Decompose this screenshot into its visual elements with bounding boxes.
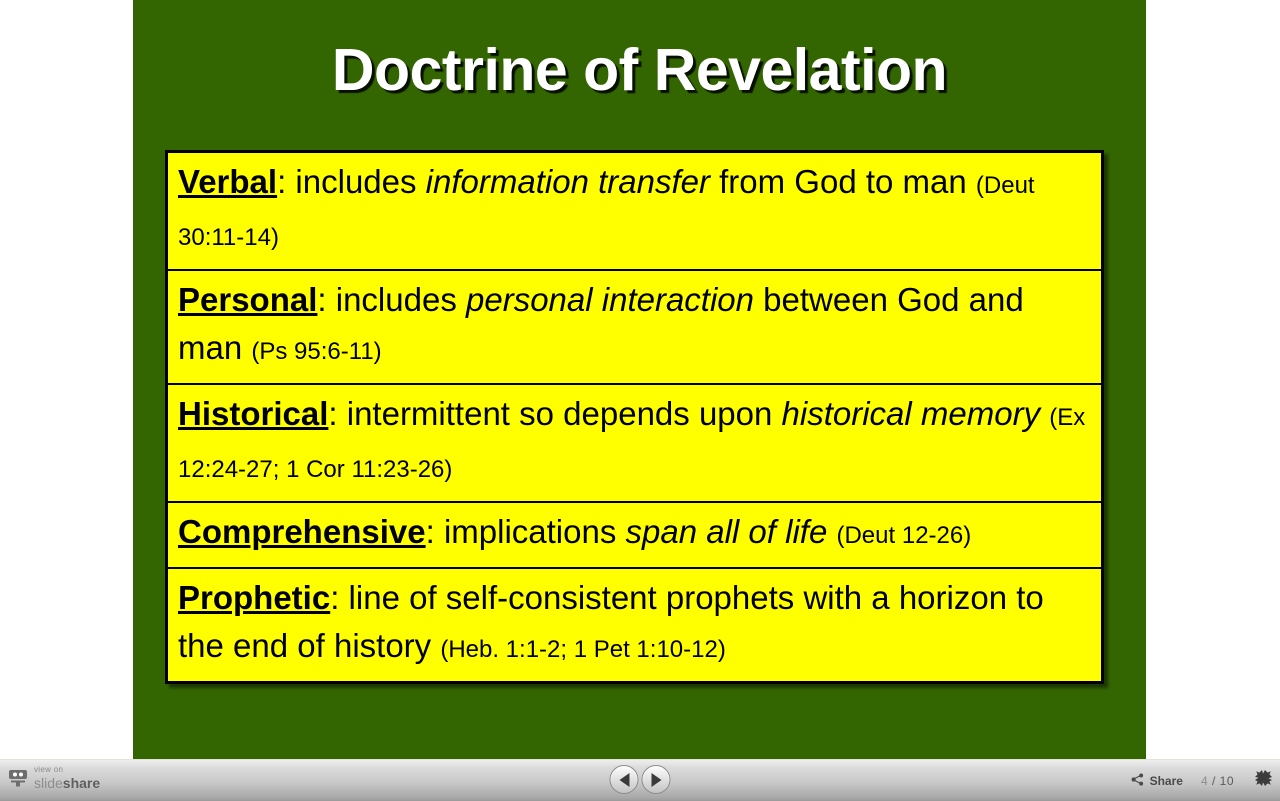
row-separator: : <box>426 513 444 550</box>
slide-canvas: Doctrine of Revelation Verbal: includes … <box>133 0 1146 759</box>
brand-view-on-label: view on <box>34 766 100 774</box>
row-separator: : <box>328 395 346 432</box>
row-text-after <box>1040 395 1049 432</box>
row-emphasis: information transfer <box>426 163 710 200</box>
brand-name-label: slideshare <box>34 776 100 790</box>
table-row: Prophetic: line of self-consistent proph… <box>168 569 1101 681</box>
row-keyword: Personal <box>178 281 317 318</box>
slide-title: Doctrine of Revelation <box>133 38 1146 102</box>
chevron-right-icon <box>651 773 661 787</box>
row-emphasis: span all of life <box>626 513 828 550</box>
slide-viewer: Doctrine of Revelation Verbal: includes … <box>0 0 1280 759</box>
row-text-before: intermittent so depends upon <box>347 395 782 432</box>
row-text-before: implications <box>444 513 626 550</box>
row-keyword: Historical <box>178 395 328 432</box>
row-keyword: Comprehensive <box>178 513 426 550</box>
row-keyword: Verbal <box>178 163 277 200</box>
current-page-number: 4 <box>1201 774 1208 788</box>
toolbar-right-controls: Share 4 / 10 <box>1131 760 1274 801</box>
slide-navigation <box>610 765 671 794</box>
points-table: Verbal: includes information transfer fr… <box>165 150 1104 684</box>
next-slide-button[interactable] <box>642 765 671 794</box>
row-text-before: includes <box>295 163 425 200</box>
row-text-after: from God to man <box>710 163 976 200</box>
row-emphasis: personal interaction <box>466 281 754 318</box>
previous-slide-button[interactable] <box>610 765 639 794</box>
table-row: Comprehensive: implications span all of … <box>168 503 1101 569</box>
row-separator: : <box>330 579 348 616</box>
player-toolbar: view on slideshare Share 4 / 1 <box>0 759 1280 801</box>
brand-name-bold: share <box>63 775 100 791</box>
row-reference: (Ps 95:6-11) <box>251 338 381 365</box>
row-emphasis: historical memory <box>782 395 1041 432</box>
row-reference: (Deut 12-26) <box>836 522 971 549</box>
table-row: Historical: intermittent so depends upon… <box>168 385 1101 503</box>
share-icon <box>1131 773 1144 789</box>
table-row: Verbal: includes information transfer fr… <box>168 153 1101 271</box>
share-button[interactable]: Share <box>1131 773 1183 789</box>
row-reference: (Heb. 1:1-2; 1 Pet 1:10-12) <box>440 636 726 663</box>
table-row: Personal: includes personal interaction … <box>168 271 1101 385</box>
row-separator: : <box>317 281 335 318</box>
fullscreen-button[interactable] <box>1252 770 1274 792</box>
chevron-left-icon <box>619 773 629 787</box>
share-label: Share <box>1150 774 1183 788</box>
page-counter: 4 / 10 <box>1201 774 1234 788</box>
slideshare-logo-icon <box>8 768 28 788</box>
fullscreen-icon <box>1254 769 1272 792</box>
slideshare-brand[interactable]: view on slideshare <box>8 766 100 790</box>
row-separator: : <box>277 163 295 200</box>
row-keyword: Prophetic <box>178 579 330 616</box>
total-page-number: / 10 <box>1212 774 1234 788</box>
row-text-before: includes <box>336 281 466 318</box>
brand-name-light: slide <box>34 775 63 791</box>
